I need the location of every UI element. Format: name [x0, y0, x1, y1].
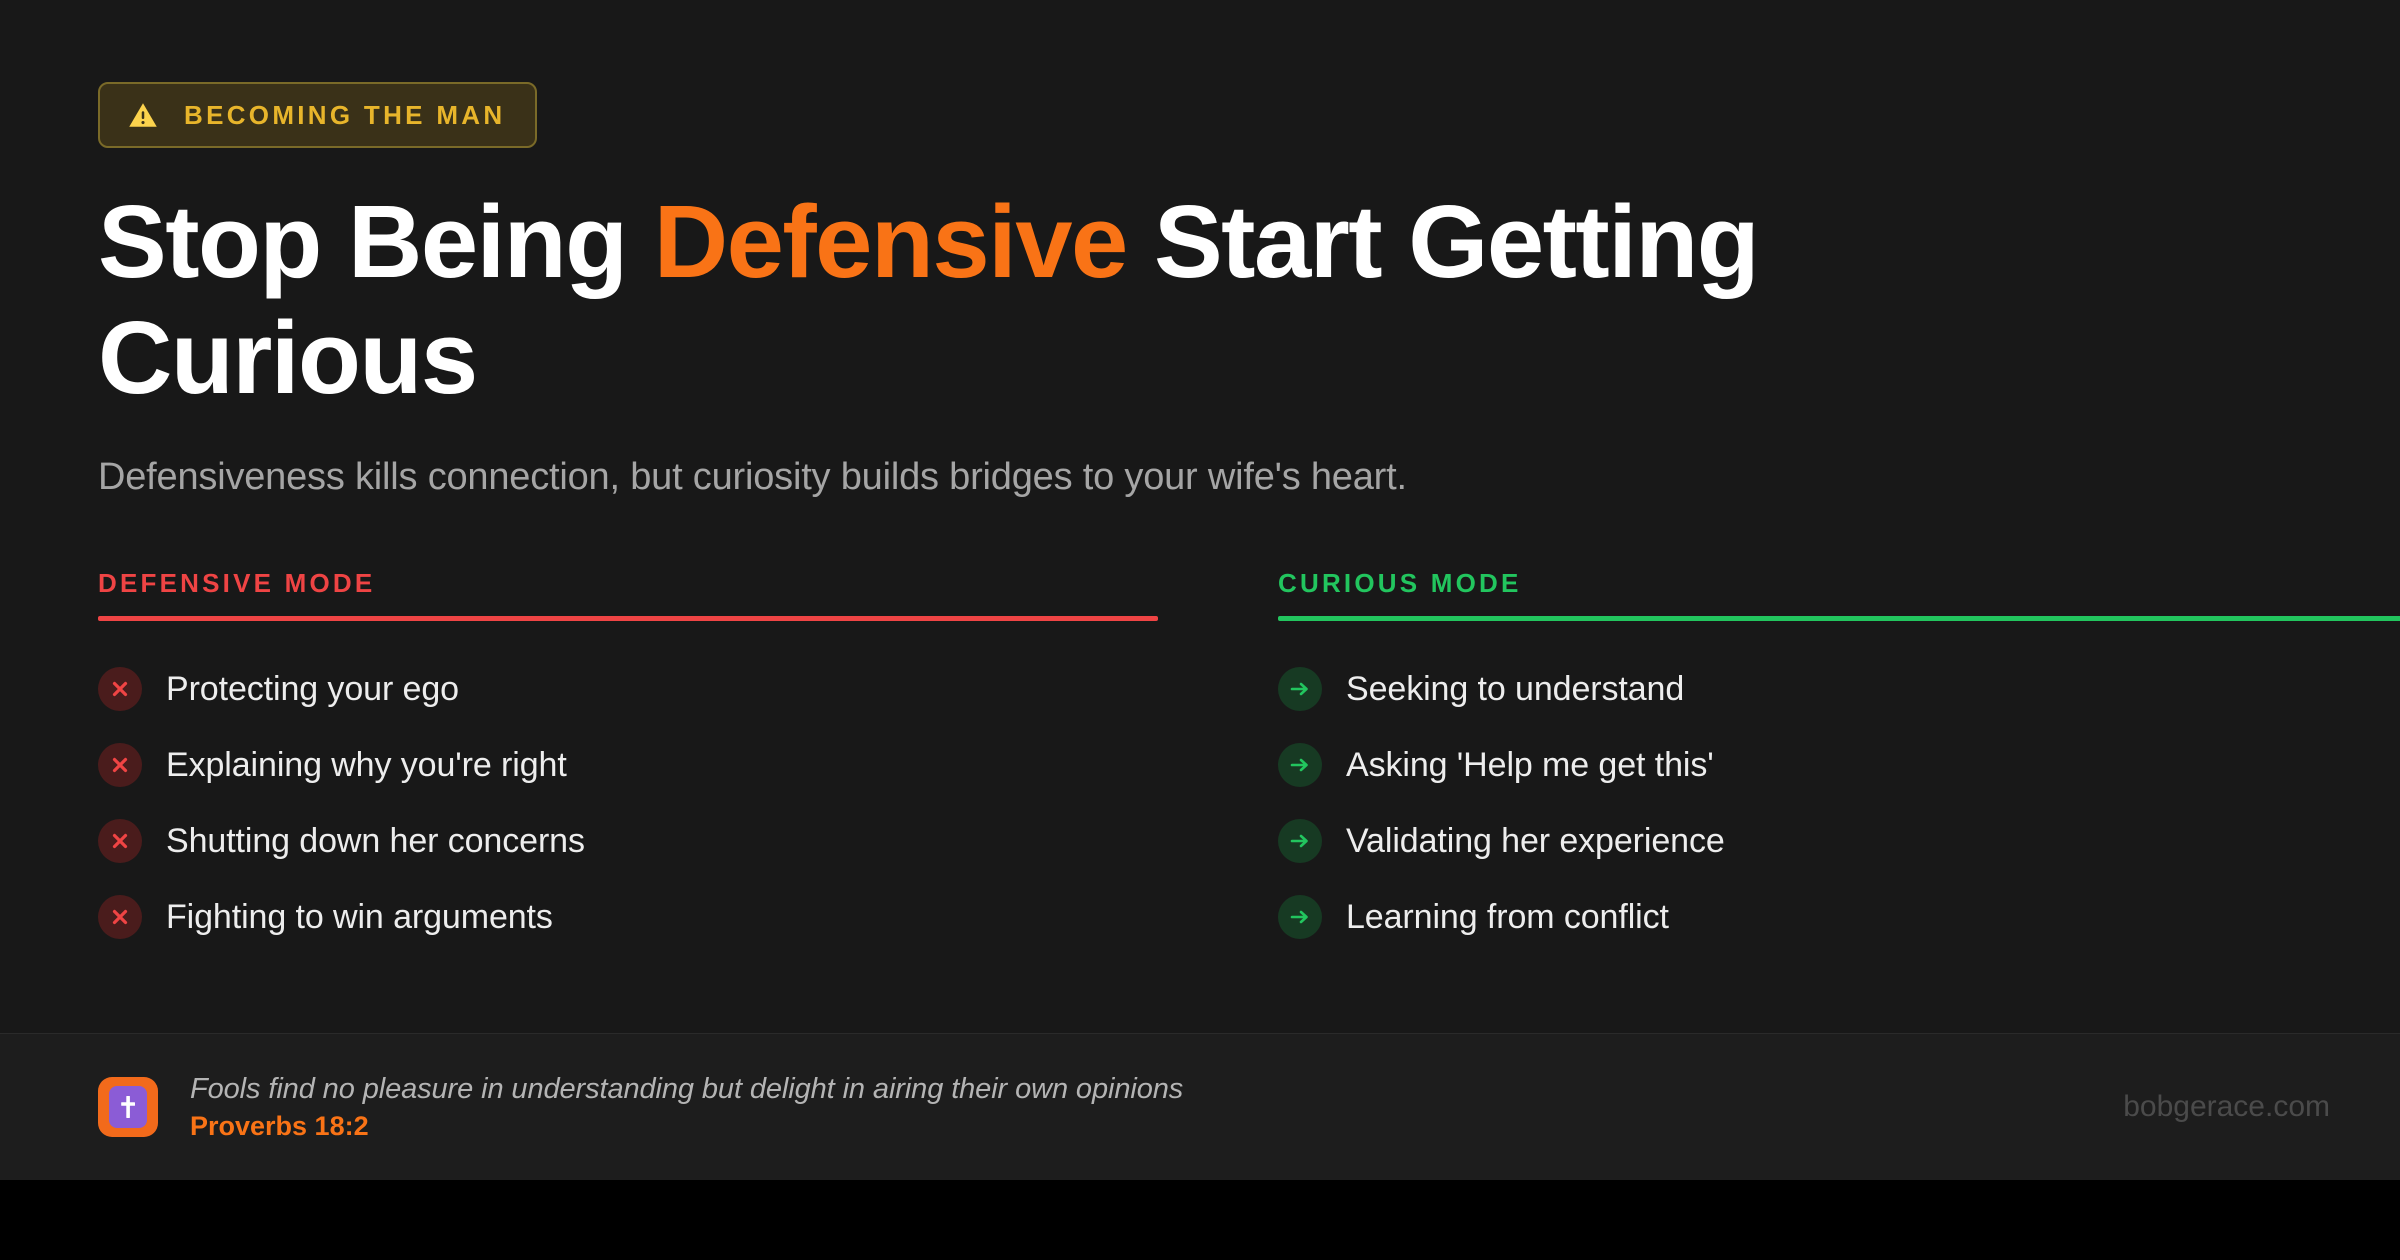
headline-part-1: Stop Being: [98, 184, 654, 299]
column-divider-curious: [1278, 616, 2400, 621]
site-watermark: bobgerace.com: [2123, 1092, 2330, 1122]
x-mark-icon: [98, 895, 142, 939]
headline-accent-word: Defensive: [654, 184, 1127, 299]
list-item-label: Protecting your ego: [166, 672, 459, 706]
list-item-label: Explaining why you're right: [166, 748, 567, 782]
cross-icon-inner: [109, 1086, 147, 1128]
scripture-quote: Fools find no pleasure in understanding …: [190, 1075, 1183, 1104]
list-item: Validating her experience: [1278, 803, 2400, 879]
comparison-columns: DEFENSIVE MODE Protecting your ego: [98, 570, 2400, 955]
list-item-label: Learning from conflict: [1346, 900, 1669, 934]
page-title: Stop Being Defensive Start Getting Curio…: [98, 184, 2058, 417]
x-mark-icon: [98, 667, 142, 711]
list-item-label: Validating her experience: [1346, 824, 1725, 858]
column-heading-curious: CURIOUS MODE: [1278, 570, 2400, 596]
list-item: Explaining why you're right: [98, 727, 1188, 803]
list-item: Fighting to win arguments: [98, 879, 1188, 955]
scripture-footer: Fools find no pleasure in understanding …: [0, 1033, 2400, 1180]
x-mark-icon: [98, 819, 142, 863]
arrow-right-icon: [1278, 895, 1322, 939]
slide-root: BECOMING THE MAN Stop Being Defensive St…: [0, 0, 2400, 1260]
scripture-text: Fools find no pleasure in understanding …: [190, 1075, 1183, 1140]
list-item-label: Seeking to understand: [1346, 672, 1684, 706]
arrow-right-icon: [1278, 819, 1322, 863]
list-item-label: Fighting to win arguments: [166, 900, 553, 934]
x-mark-icon: [98, 743, 142, 787]
list-item: Asking 'Help me get this': [1278, 727, 2400, 803]
list-item: Learning from conflict: [1278, 879, 2400, 955]
column-defensive-mode: DEFENSIVE MODE Protecting your ego: [98, 570, 1188, 955]
list-item: Seeking to understand: [1278, 651, 2400, 727]
list-item: Shutting down her concerns: [98, 803, 1188, 879]
column-divider-defensive: [98, 616, 1158, 621]
cross-icon: [98, 1077, 158, 1137]
list-defensive: Protecting your ego Explaining why you'r…: [98, 651, 1188, 955]
list-item-label: Asking 'Help me get this': [1346, 748, 1714, 782]
main-content: BECOMING THE MAN Stop Being Defensive St…: [0, 0, 2400, 1033]
list-item-label: Shutting down her concerns: [166, 824, 585, 858]
column-heading-defensive: DEFENSIVE MODE: [98, 570, 1188, 596]
scripture-reference: Proverbs 18:2: [190, 1113, 1183, 1140]
bottom-strip: [0, 1180, 2400, 1260]
warning-triangle-icon: [128, 101, 158, 129]
list-curious: Seeking to understand Asking 'Help me ge…: [1278, 651, 2400, 955]
page-subtitle: Defensiveness kills connection, but curi…: [98, 453, 2400, 502]
category-badge: BECOMING THE MAN: [98, 82, 537, 148]
column-curious-mode: CURIOUS MODE Seeking to understand: [1278, 570, 2400, 955]
arrow-right-icon: [1278, 743, 1322, 787]
scripture-block: Fools find no pleasure in understanding …: [98, 1075, 1183, 1140]
arrow-right-icon: [1278, 667, 1322, 711]
list-item: Protecting your ego: [98, 651, 1188, 727]
category-badge-label: BECOMING THE MAN: [184, 102, 505, 128]
